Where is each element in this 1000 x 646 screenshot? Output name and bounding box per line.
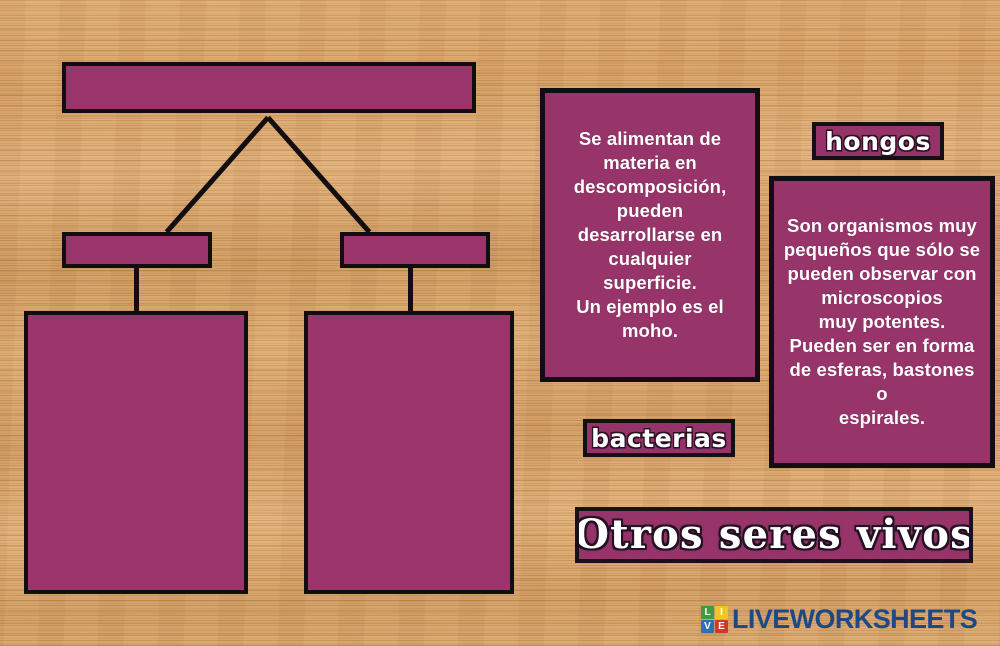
diagram-box-root[interactable] <box>62 62 476 113</box>
word-tag-bacterias[interactable]: bacterias <box>583 419 735 457</box>
connector-root-to-left <box>165 116 270 234</box>
logo-tile-e: E <box>715 620 728 633</box>
connector-root-to-right <box>266 116 371 234</box>
diagram-box-branch-right[interactable] <box>340 232 490 268</box>
title-banner: Otros seres vivos <box>575 507 973 563</box>
diagram-box-branch-left[interactable] <box>62 232 212 268</box>
word-tag-bacterias-label: bacterias <box>591 424 727 453</box>
diagram-box-leaf-right[interactable] <box>304 311 514 594</box>
word-tag-hongos[interactable]: hongos <box>812 122 944 160</box>
logo-tile-v: V <box>701 620 714 633</box>
connector-right-to-leaf <box>408 266 413 314</box>
description-panel-hongos: Se alimentan de materia en descomposició… <box>540 88 760 382</box>
worksheet-canvas: Se alimentan de materia en descomposició… <box>0 0 1000 646</box>
liveworksheets-logo: L I V E LIVEWORKSHEETS <box>701 606 977 633</box>
logo-tile-i: I <box>715 606 728 619</box>
logo-wordmark: LIVEWORKSHEETS <box>732 606 977 633</box>
logo-tiles: L I V E <box>701 606 728 633</box>
page-title: Otros seres vivos <box>575 515 973 555</box>
logo-tile-l: L <box>701 606 714 619</box>
word-tag-hongos-label: hongos <box>825 127 931 156</box>
description-panel-bacterias: Son organismos muy pequeños que sólo se … <box>769 176 995 468</box>
diagram-box-leaf-left[interactable] <box>24 311 248 594</box>
connector-left-to-leaf <box>134 266 139 314</box>
